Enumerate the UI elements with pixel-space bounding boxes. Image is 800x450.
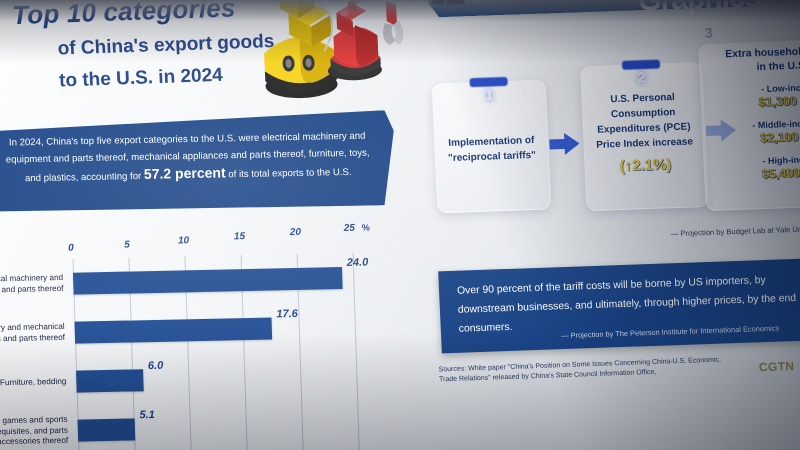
card-2-text: U.S. Personal Consumption Expenditures (… — [588, 89, 700, 175]
card-3-content: Extra household costs in the U.S. - Low-… — [706, 43, 800, 184]
card-1-text: Implementation of "reciprocal tariffs" — [441, 133, 542, 166]
card-3-item-middle: - Middle-income families: $2,100 per hou… — [710, 116, 800, 148]
card-3-number: 3 — [668, 23, 749, 43]
chart-bar-3 — [76, 369, 144, 392]
section-banner-text: U.S. tariffs: What's the impact on peopl… — [452, 0, 652, 6]
chart-category-label-2: Machinery and mechanical appliances and … — [0, 322, 65, 346]
gridline-25 — [353, 253, 360, 450]
cgtn-watermark: CGTN — [759, 359, 795, 374]
x-axis-unit: % — [362, 222, 370, 232]
xtick-25: 25 — [344, 223, 355, 234]
chart-category-label-1: Electrical machinery and equipment and p… — [0, 273, 64, 297]
card-1-line2: "reciprocal tariffs" — [442, 148, 543, 166]
cat1-line2: equipment and parts thereof — [0, 283, 64, 296]
card-3-heading: Extra household costs in the U.S. — [706, 43, 800, 76]
card-3-item-middle-amount: $2,100 — [760, 130, 799, 145]
page-title-line3: to the U.S. in 2024 — [59, 65, 224, 93]
xtick-5: 5 — [124, 240, 130, 251]
xtick-20: 20 — [290, 227, 301, 238]
infographic-slide: Top 10 categories of China's export good… — [0, 0, 800, 450]
arrow-1-head — [564, 132, 580, 155]
card-3-credit: — Projection by Budget Lab at Yale Unive… — [670, 224, 800, 238]
sources-note: Sources: White paper "China's Position o… — [438, 356, 721, 386]
chart-value-4: 5.1 — [139, 409, 155, 421]
card-2-line4: Price Index increase — [590, 134, 699, 153]
cat2-line2: appliances and parts thereof — [0, 332, 65, 345]
logo-graphics-text: Graphics — [637, 0, 760, 16]
flow-card-1: 1 Implementation of "reciprocal tariffs" — [432, 80, 552, 214]
quote-box: Over 90 percent of the tariff costs will… — [438, 258, 800, 353]
chart-bar-1 — [73, 267, 343, 295]
chart-category-label-3: Furniture, bedding — [0, 377, 67, 390]
card-1-number: 1 — [433, 85, 546, 106]
chart-value-2: 17.6 — [276, 308, 298, 320]
intro-text-part2: of its total exports to the U.S. — [226, 167, 352, 180]
intro-ribbon: In 2024, China's top five export categor… — [0, 110, 397, 220]
intro-ribbon-text: In 2024, China's top five export categor… — [0, 127, 378, 187]
robot-arms-svg — [234, 0, 431, 114]
card-3-item-high: - High-income families: $5,400 per house… — [711, 152, 800, 184]
chart-value-3: 6.0 — [148, 360, 164, 372]
card-3-item-low-amount: $1,300 — [759, 94, 798, 109]
card-2-number: 2 — [581, 67, 702, 88]
cat3-line1: Furniture, bedding — [0, 377, 67, 390]
bar-chart: 0 5 10 15 20 25 % Electrical machinery a… — [0, 230, 399, 450]
flow-arrow-1 — [549, 132, 580, 155]
card-3-item-low: - Low-income families: $1,300 per househ… — [708, 80, 800, 112]
chart-value-1: 24.0 — [347, 257, 369, 269]
card-3-item-high-amount: $5,400 — [762, 166, 800, 181]
intro-highlight: 57.2 percent — [144, 164, 226, 182]
robot-arm-yellow — [256, 0, 339, 99]
chart-bar-4 — [78, 418, 136, 441]
cat4-line3: and accessories thereof — [0, 436, 68, 449]
robot-arm-red — [324, 0, 412, 81]
card-2-highlight: (↑2.1%) — [591, 156, 700, 175]
xtick-10: 10 — [178, 235, 189, 246]
cut-off-top-text: not from — [432, 0, 464, 6]
xtick-0: 0 — [68, 243, 74, 254]
robot-arms-illustration — [234, 0, 431, 114]
flow-card-2: 2 U.S. Personal Consumption Expenditures… — [580, 62, 709, 211]
chart-bar-2 — [75, 318, 273, 344]
screenshot-root: Top 10 categories of China's export good… — [0, 0, 800, 450]
chart-category-label-4: Toys, games and sports requisites, and p… — [0, 415, 68, 449]
xtick-15: 15 — [234, 231, 245, 242]
page-title-line1: Top 10 categories — [11, 0, 236, 31]
